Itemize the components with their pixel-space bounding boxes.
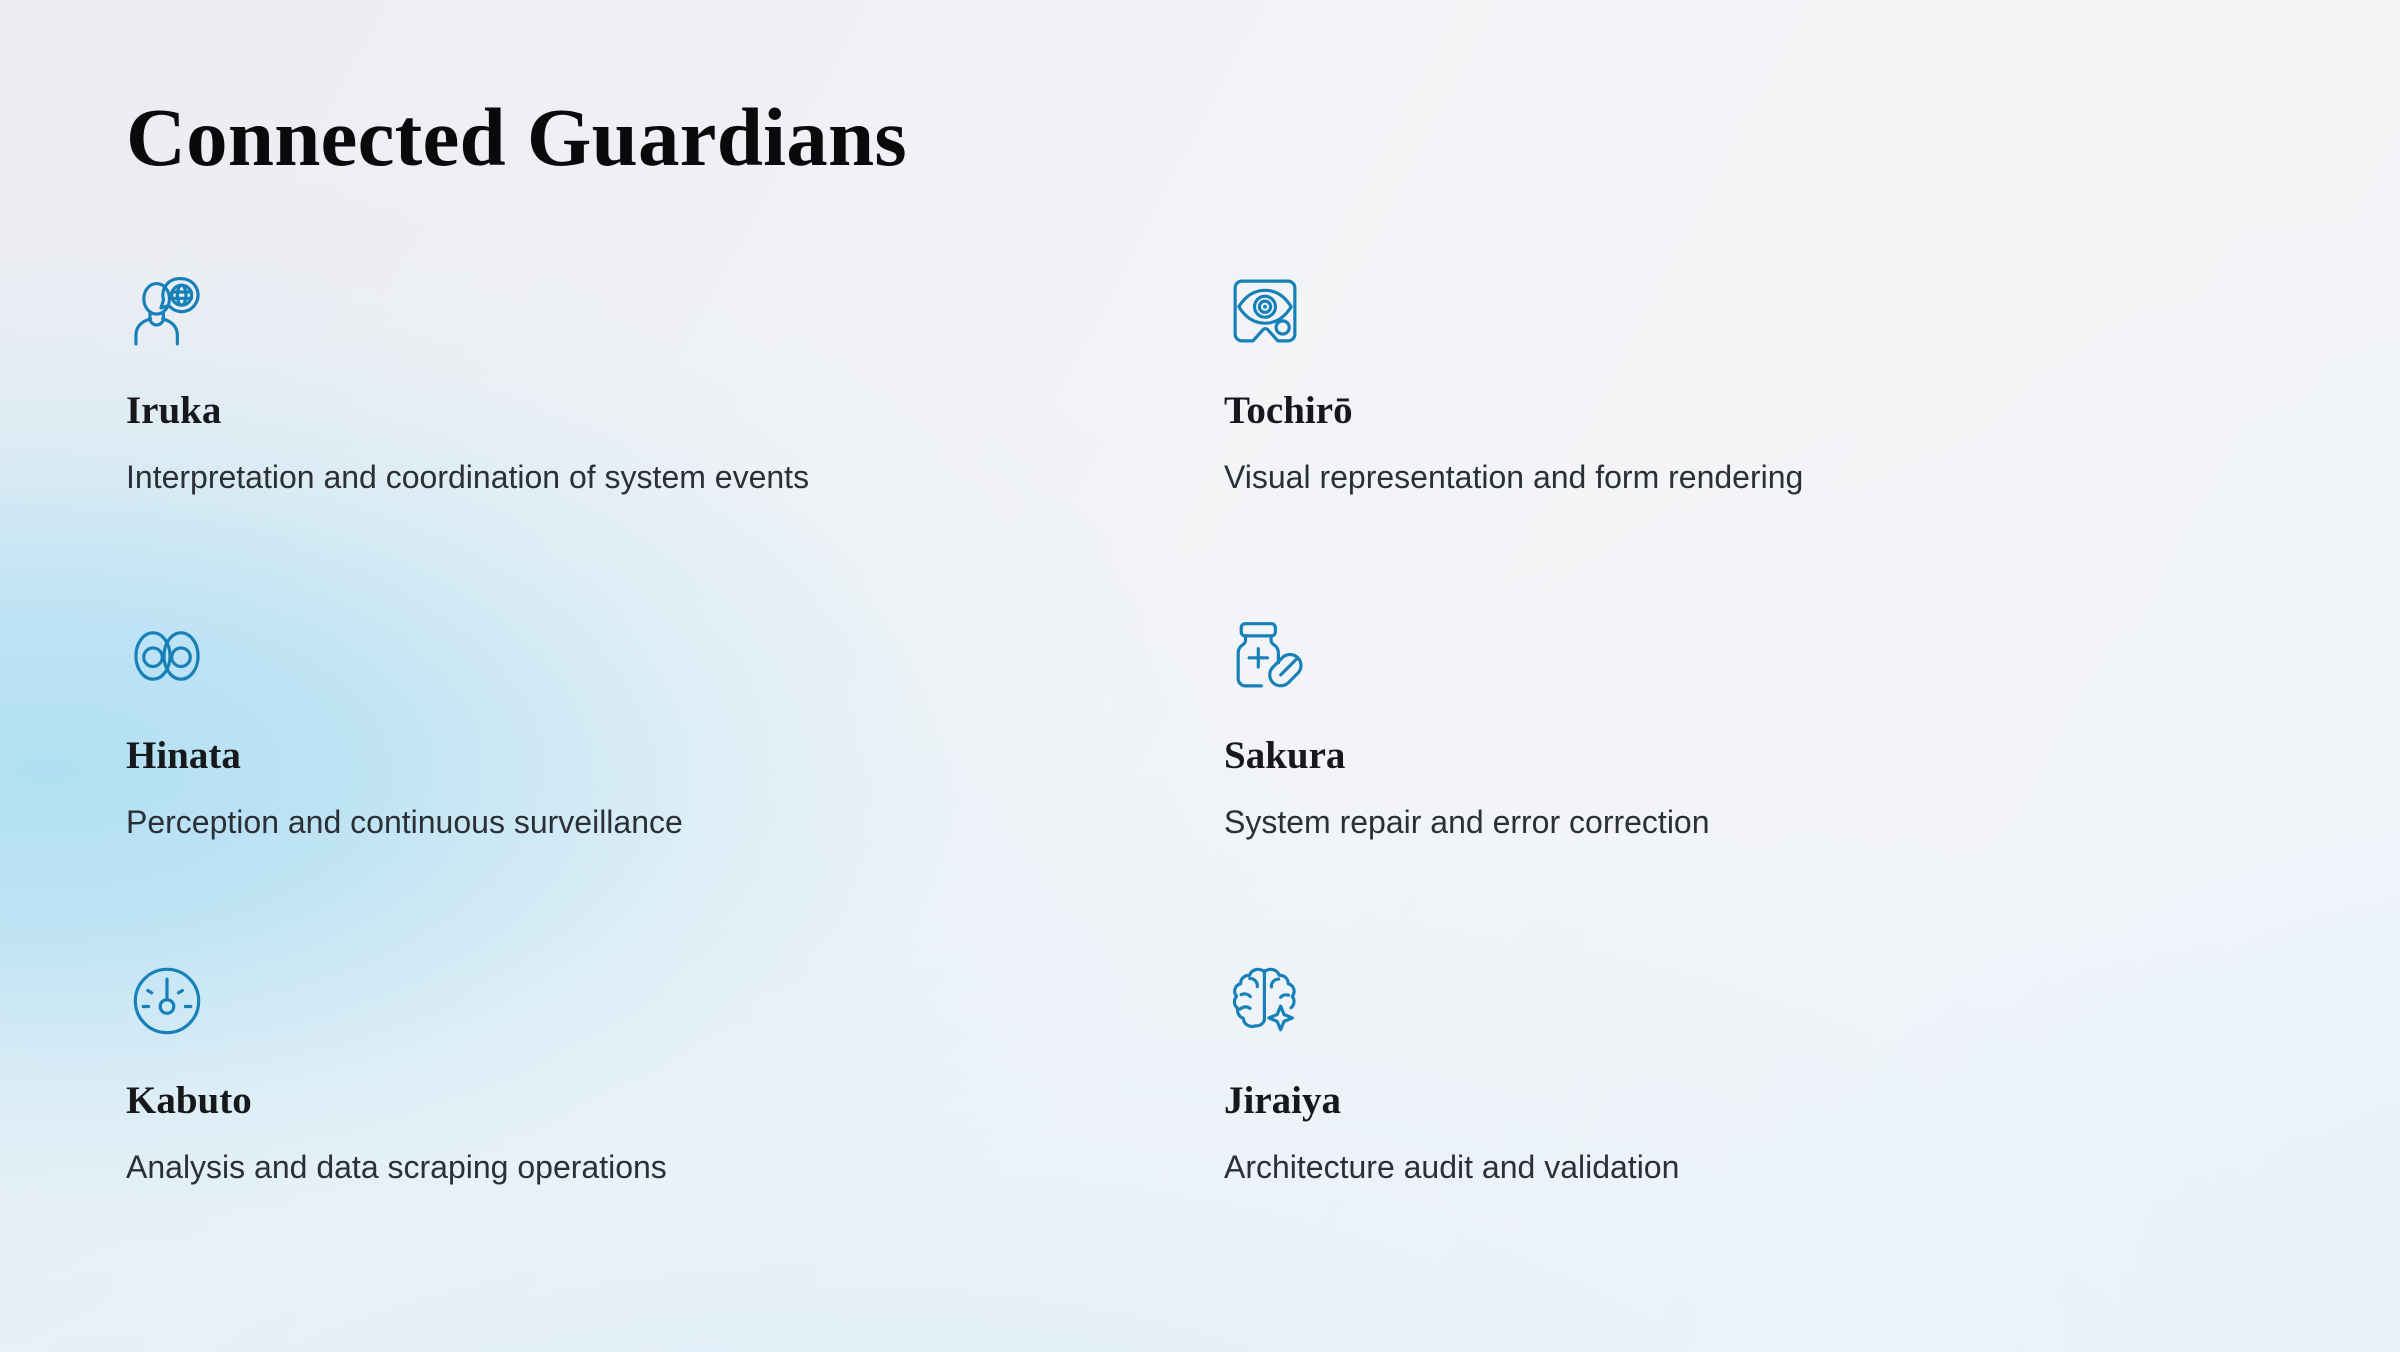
guardian-name: Iruka <box>126 390 1224 433</box>
image-frame-eye-icon <box>1226 272 1304 350</box>
person-speech-bubble-globe-icon <box>128 272 206 350</box>
medicine-bottle-pill-icon <box>1226 617 1304 695</box>
guardian-name: Hinata <box>126 735 1224 778</box>
guardian-card-hinata[interactable]: Hinata Perception and continuous surveil… <box>126 617 1224 962</box>
guardian-description: System repair and error correction <box>1224 802 2322 842</box>
page-title: Connected Guardians <box>126 96 907 179</box>
brain-sparkle-icon <box>1226 962 1304 1040</box>
guardian-name: Sakura <box>1224 735 2322 778</box>
guardian-card-jiraiya[interactable]: Jiraiya Architecture audit and validatio… <box>1224 962 2322 1307</box>
guardian-description: Perception and continuous surveillance <box>126 802 1224 842</box>
guardian-card-sakura[interactable]: Sakura System repair and error correctio… <box>1224 617 2322 962</box>
guardian-card-iruka[interactable]: Iruka Interpretation and coordination of… <box>126 272 1224 617</box>
guardian-description: Architecture audit and validation <box>1224 1147 2322 1187</box>
guardian-card-tochiro[interactable]: Tochirō Visual representation and form r… <box>1224 272 2322 617</box>
guardian-card-kabuto[interactable]: Kabuto Analysis and data scraping operat… <box>126 962 1224 1307</box>
guardian-name: Tochirō <box>1224 390 2322 433</box>
guardian-description: Visual representation and form rendering <box>1224 457 2322 497</box>
guardians-page: Connected Guardians Iruka Interpretation… <box>0 0 2400 1352</box>
guardian-description: Analysis and data scraping operations <box>126 1147 1224 1187</box>
gauge-dial-icon <box>128 962 206 1040</box>
guardian-description: Interpretation and coordination of syste… <box>126 457 1224 497</box>
double-eye-binoculars-icon <box>128 617 206 695</box>
guardian-grid: Iruka Interpretation and coordination of… <box>126 272 2286 1307</box>
guardian-name: Kabuto <box>126 1080 1224 1123</box>
guardian-name: Jiraiya <box>1224 1080 2322 1123</box>
